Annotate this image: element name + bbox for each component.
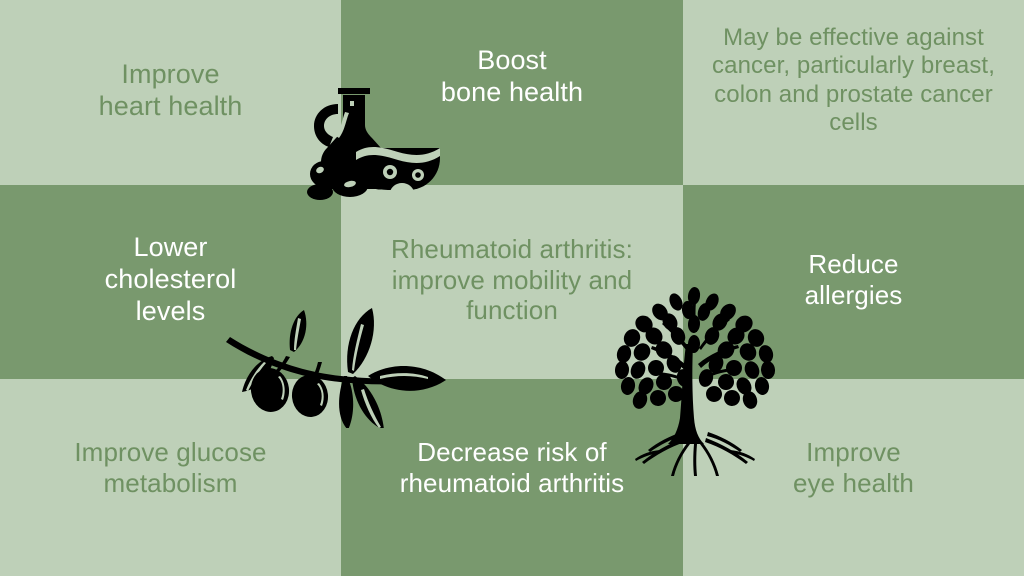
benefit-cell-allergies: Reduce allergies — [683, 185, 1024, 379]
benefit-label-rheumatoid-mobility: Rheumatoid arthritis: improve mobility a… — [370, 234, 655, 326]
benefit-label-glucose: Improve glucose metabolism — [26, 437, 316, 498]
benefit-cell-rheumatoid-mobility: Rheumatoid arthritis: improve mobility a… — [341, 185, 683, 379]
benefit-label-bone-health: Boost bone health — [441, 45, 583, 109]
benefit-label-eye-health: Improve eye health — [793, 437, 914, 498]
benefit-cell-cancer: May be effective against cancer, particu… — [683, 0, 1024, 185]
benefits-grid: Improve heart health Boost bone health M… — [0, 0, 1024, 576]
benefit-label-cholesterol: Lower cholesterol levels — [105, 232, 237, 328]
olive-oil-benefits-infographic: Improve heart health Boost bone health M… — [0, 0, 1024, 576]
benefit-cell-cholesterol: Lower cholesterol levels — [0, 185, 341, 379]
benefit-cell-rheumatoid-risk: Decrease risk of rheumatoid arthritis — [341, 379, 683, 576]
benefit-cell-eye-health: Improve eye health — [683, 379, 1024, 576]
benefit-label-allergies: Reduce allergies — [805, 249, 903, 310]
benefit-label-rheumatoid-risk: Decrease risk of rheumatoid arthritis — [362, 437, 662, 498]
benefit-cell-bone-health: Boost bone health — [341, 0, 683, 185]
benefit-cell-glucose: Improve glucose metabolism — [0, 379, 341, 576]
benefit-label-cancer: May be effective against cancer, particu… — [704, 24, 1004, 137]
benefit-cell-heart-health: Improve heart health — [0, 0, 341, 185]
benefit-label-heart-health: Improve heart health — [99, 59, 243, 123]
